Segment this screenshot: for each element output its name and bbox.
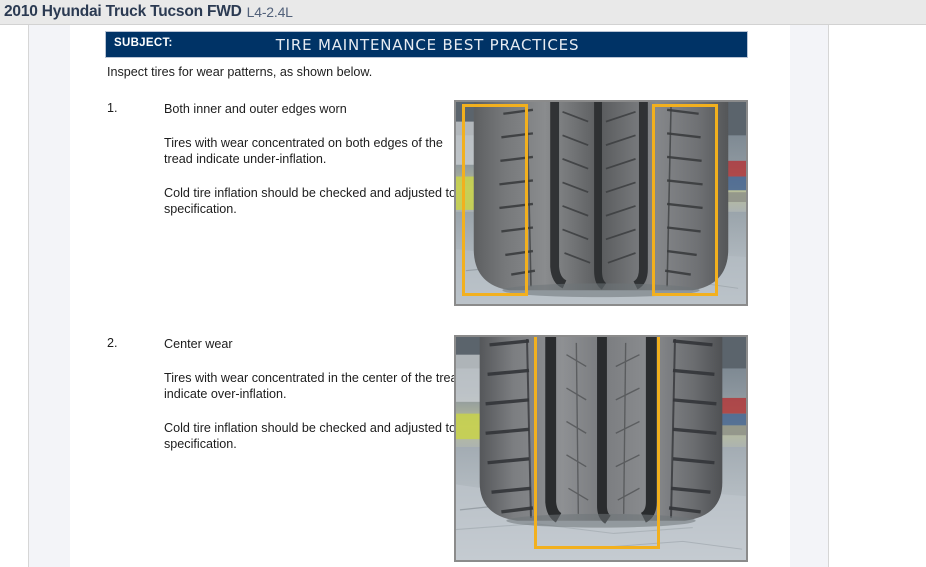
document-page: SUBJECT: TIRE MAINTENANCE BEST PRACTICES…	[70, 25, 790, 567]
subject-title: TIRE MAINTENANCE BEST PRACTICES	[106, 36, 749, 54]
list-item: 1. Both inner and outer edges worn Tires…	[107, 101, 467, 218]
tire-photo-edges-worn	[454, 100, 748, 306]
inner-edge-highlight	[462, 104, 528, 296]
item-body: Center wear Tires with wear concentrated…	[164, 336, 467, 453]
subject-banner: SUBJECT: TIRE MAINTENANCE BEST PRACTICES	[105, 31, 748, 58]
item-paragraph: Cold tire inflation should be checked an…	[164, 185, 467, 218]
item-paragraph: Tires with wear concentrated on both edg…	[164, 135, 467, 168]
item-paragraph: Cold tire inflation should be checked an…	[164, 420, 467, 453]
intro-text: Inspect tires for wear patterns, as show…	[107, 65, 372, 79]
document-viewer[interactable]: SUBJECT: TIRE MAINTENANCE BEST PRACTICES…	[0, 25, 926, 567]
item-number: 2.	[107, 336, 118, 350]
page-gutter-left	[28, 25, 70, 567]
vehicle-engine-label: L4-2.4L	[247, 4, 293, 20]
app-header: 2010 Hyundai Truck Tucson FWD L4-2.4L	[0, 0, 926, 25]
item-heading: Both inner and outer edges worn	[164, 101, 467, 118]
vehicle-title: 2010 Hyundai Truck Tucson FWD	[4, 3, 242, 21]
page-gutter-right	[790, 25, 829, 567]
item-number: 1.	[107, 101, 118, 115]
tire-photo-center-worn	[454, 335, 748, 562]
center-tread-highlight	[534, 335, 660, 549]
item-paragraph: Tires with wear concentrated in the cent…	[164, 370, 467, 403]
outer-edge-highlight	[652, 104, 718, 296]
list-item: 2. Center wear Tires with wear concentra…	[107, 336, 467, 453]
item-heading: Center wear	[164, 336, 467, 353]
item-body: Both inner and outer edges worn Tires wi…	[164, 101, 467, 218]
